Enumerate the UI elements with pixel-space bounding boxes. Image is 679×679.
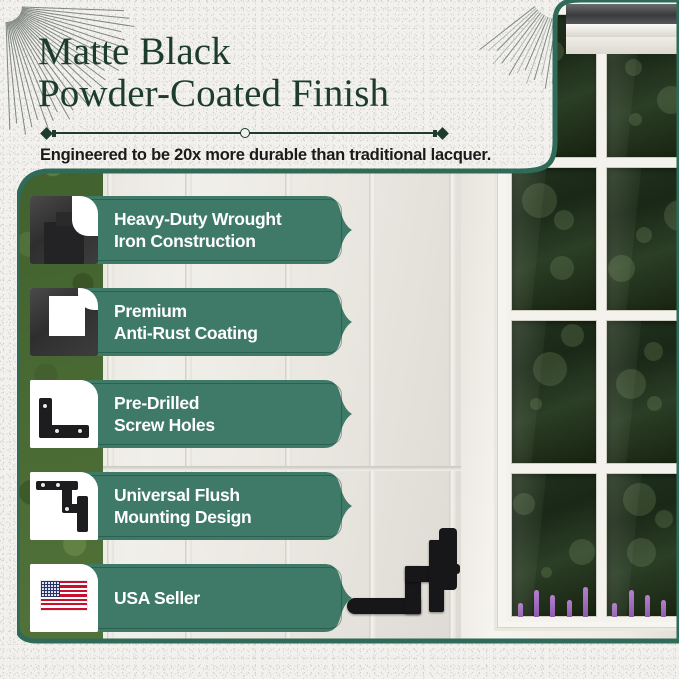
window-pane: [511, 320, 597, 464]
window-pane: [511, 473, 597, 617]
feature-label-line-1: Heavy-Duty Wrought: [114, 208, 329, 230]
lavender-flower: [612, 603, 617, 617]
flush-mount-hinge-icon: [30, 472, 98, 540]
divider-diamond-left: [40, 127, 53, 140]
usa-flag-icon: [30, 564, 98, 632]
soffit: [566, 37, 679, 54]
feature-label-line-2: Iron Construction: [114, 230, 329, 252]
feature-badge[interactable]: Universal FlushMounting Design: [30, 472, 350, 540]
feature-label-line-2: Screw Holes: [114, 414, 329, 436]
feature-label-line-1: USA Seller: [114, 587, 329, 609]
window-pane: [606, 167, 679, 311]
feature-label-line-1: Pre-Drilled: [114, 392, 329, 414]
window-pane: [511, 167, 597, 311]
lavender-flower: [534, 590, 539, 617]
usa-flag-graphic: [41, 581, 87, 610]
title-line-1: Matte Black: [38, 32, 518, 72]
lavender-flower: [567, 600, 572, 617]
window-pane: [606, 473, 679, 617]
feature-badge-label: Heavy-Duty WroughtIron Construction: [114, 196, 329, 264]
feature-badge-list: Heavy-Duty WroughtIron ConstructionPremi…: [30, 196, 350, 656]
lavender-flower: [583, 587, 588, 617]
gutter: [566, 24, 679, 37]
divider-tick-right: [433, 130, 437, 137]
page-subtitle: Engineered to be 20x more durable than t…: [40, 146, 518, 165]
feature-label-line-2: Mounting Design: [114, 506, 329, 528]
lavender-flower: [645, 595, 650, 617]
anti-rust-coating-icon: [30, 288, 98, 356]
feature-badge-label: PremiumAnti-Rust Coating: [114, 288, 329, 356]
feature-label-line-2: Anti-Rust Coating: [114, 322, 329, 344]
infographic-canvas: Matte Black Powder-Coated Finish Enginee…: [0, 0, 679, 679]
divider-diamond-right: [436, 127, 449, 140]
lavender-flower: [629, 590, 634, 617]
feature-badge[interactable]: PremiumAnti-Rust Coating: [30, 288, 350, 356]
feature-badge-label: Universal FlushMounting Design: [114, 472, 329, 540]
divider-center-ring: [240, 128, 250, 138]
roof-shingle: [566, 4, 679, 24]
feature-badge[interactable]: Pre-DrilledScrew Holes: [30, 380, 350, 448]
title-line-2: Powder-Coated Finish: [38, 72, 518, 116]
feature-label-line-1: Premium: [114, 300, 329, 322]
feature-badge-label: Pre-DrilledScrew Holes: [114, 380, 329, 448]
screw-holes-bracket-icon: [30, 380, 98, 448]
window-pane: [606, 320, 679, 464]
feature-badge-label: USA Seller: [114, 564, 329, 632]
lavender-flower: [518, 603, 523, 617]
page-title: Matte Black Powder-Coated Finish: [38, 32, 518, 116]
lavender-flower: [550, 595, 555, 617]
header-block: Matte Black Powder-Coated Finish Enginee…: [38, 32, 518, 165]
divider-tick-left: [52, 130, 56, 137]
roof-gutter-detail: [566, 0, 679, 54]
lavender-flower: [661, 600, 666, 617]
bottom-shutter-hinge: [347, 526, 467, 626]
feature-badge[interactable]: Heavy-Duty WroughtIron Construction: [30, 196, 350, 264]
ornamental-divider: [40, 126, 449, 140]
feature-badge[interactable]: USA Seller: [30, 564, 350, 632]
feature-label-line-1: Universal Flush: [114, 484, 329, 506]
wrought-iron-closeup-icon: [30, 196, 98, 264]
